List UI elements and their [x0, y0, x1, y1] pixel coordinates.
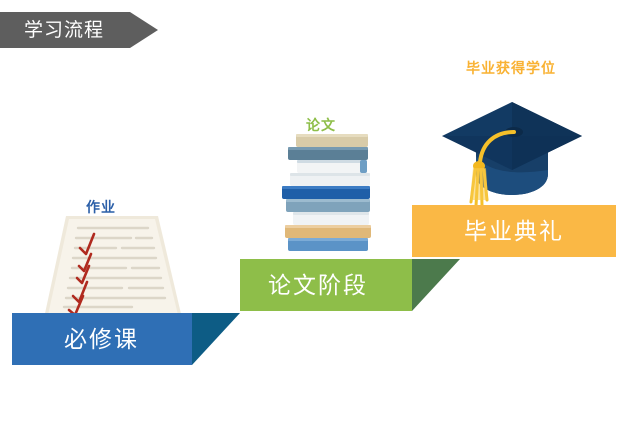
banner-learning-process: 学习流程 [0, 12, 158, 48]
step-bar-thesis-phase[interactable]: 论文阶段 [240, 259, 412, 311]
homework-paper-icon [36, 214, 188, 329]
banner-label: 学习流程 [0, 21, 104, 40]
step-label-thesis-phase: 论文阶段 [240, 274, 368, 297]
caption-homework: 作业 [86, 200, 116, 214]
step-shadow-wedge-1 [192, 313, 240, 365]
slide-canvas: 学习流程 作业 论文 毕业获得学位 [0, 0, 640, 426]
caption-thesis: 论文 [306, 118, 336, 132]
step-bar-graduation-ceremony[interactable]: 毕业典礼 [412, 205, 616, 257]
step-label-required-courses: 必修课 [12, 328, 139, 351]
book-stack-icon [272, 132, 384, 259]
step-label-graduation-ceremony: 毕业典礼 [412, 220, 564, 243]
caption-degree: 毕业获得学位 [466, 61, 556, 75]
graduation-cap-icon [424, 96, 584, 213]
step-bar-required-courses[interactable]: 必修课 [12, 313, 192, 365]
step-shadow-wedge-2 [412, 259, 460, 311]
